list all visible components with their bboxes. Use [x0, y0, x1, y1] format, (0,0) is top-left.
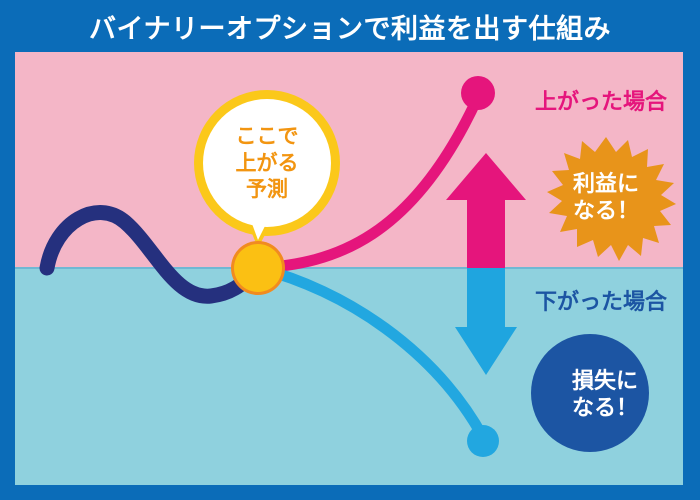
- down-arrow-icon: [455, 268, 517, 375]
- prediction-callout-bubble: [194, 90, 340, 248]
- down-outcome-endpoint: [467, 425, 499, 457]
- zone-up-label: 上がった場合: [535, 84, 667, 116]
- chart-panel: 上がった場合 下がった場合 利益に なる！ 損失に なる！ ここで 上がる 予測: [15, 52, 683, 485]
- entry-point-marker: [231, 241, 285, 295]
- profit-burst-shape: [547, 137, 676, 261]
- chart-graphics: [15, 52, 683, 485]
- page-title: バイナリーオプションで利益を出す仕組み: [0, 0, 700, 52]
- infographic-canvas: バイナリーオプションで利益を出す仕組み: [0, 0, 700, 500]
- down-outcome-line: [258, 268, 499, 457]
- up-outcome-endpoint: [461, 76, 495, 110]
- loss-circle-shape: [531, 334, 649, 452]
- zone-down-label: 下がった場合: [535, 284, 667, 316]
- up-arrow-icon: [446, 153, 526, 268]
